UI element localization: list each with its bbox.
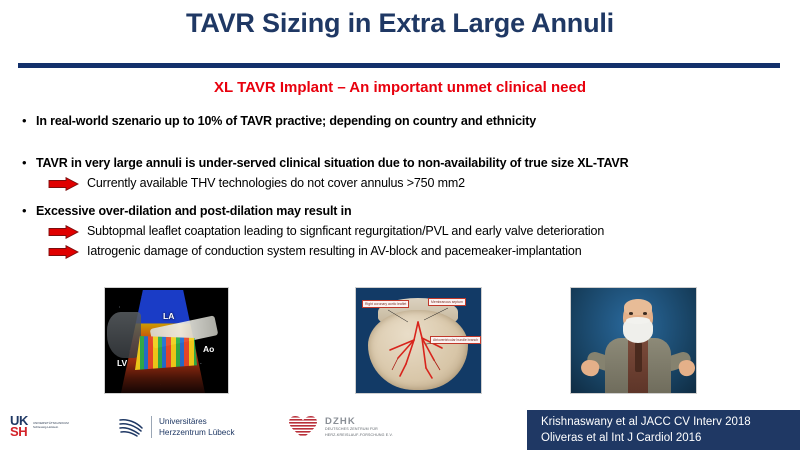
echo-color-mosaic-jet [135, 336, 197, 370]
title-divider [18, 63, 780, 68]
sub-bullet-text: Currently available THV technologies do … [87, 175, 465, 192]
slide: TAVR Sizing in Extra Large Annuli XL TAV… [0, 0, 800, 450]
dzhk-subtitle-line2: HERZ-KREISLAUF-FORSCHUNG E.V. [325, 433, 393, 438]
spacer [0, 192, 800, 202]
spacer [0, 132, 800, 154]
citation-box: Krishnaswany et al JACC CV Interv 2018 O… [527, 410, 800, 450]
uhz-name-line1: Universitäres [159, 416, 235, 427]
bullet-text: Excessive over-dilation and post-dilatio… [36, 202, 351, 220]
citation-line-2: Oliveras et al Int J Cardiol 2016 [541, 430, 800, 446]
uksh-logo: UK SH UNIVERSITÄTSKLINIKUM Schleswig-Hol… [10, 409, 106, 443]
sub-bullet-item: Iatrogenic damage of conduction system r… [0, 243, 800, 260]
heart-callout-label: Membranous septum [428, 298, 466, 306]
echo-label-ao: Ao [203, 344, 214, 354]
echo-ventricle-wall [107, 312, 141, 358]
dzhk-text-block: DZHK DEUTSCHES ZENTRUM FÜR HERZ-KREISLAU… [325, 416, 393, 437]
person-tie [635, 342, 642, 372]
logo-separator [151, 416, 152, 438]
citation-line-1: Krishnaswany et al JACC CV Interv 2018 [541, 414, 800, 430]
slide-subtitle: XL TAVR Implant – An important unmet cli… [0, 79, 800, 96]
uksh-subtitle-line2: Schleswig-Holstein [33, 426, 69, 430]
sub-bullet-item: Currently available THV technologies do … [0, 175, 800, 192]
bullet-text: In real-world szenario up to 10% of TAVR… [36, 112, 536, 130]
right-arrow-icon [48, 245, 79, 259]
person-left-eye [629, 312, 633, 315]
bullet-list: • In real-world szenario up to 10% of TA… [0, 112, 800, 260]
bullet-item: • TAVR in very large annuli is under-ser… [0, 154, 800, 172]
bullet-item: • In real-world szenario up to 10% of TA… [0, 112, 800, 130]
bullet-item: • Excessive over-dilation and post-dilat… [0, 202, 800, 220]
dzhk-name: DZHK [325, 416, 393, 427]
echo-label-la: LA [163, 311, 174, 321]
person-right-eye [643, 312, 647, 315]
right-arrow-icon [48, 177, 79, 191]
striped-heart-icon [288, 415, 318, 439]
uhz-luebeck-logo: Universitäres Herzzentrum Lübeck [118, 412, 268, 442]
bullet-text: TAVR in very large annuli is under-serve… [36, 154, 628, 172]
sub-bullet-text: Iatrogenic damage of conduction system r… [87, 243, 582, 260]
sub-bullet-item: Subtopmal leaflet coaptation leading to … [0, 223, 800, 240]
echocardiogram-image: LA LV Ao [104, 287, 229, 394]
heart-callout-label: Right coronary aortic leaflet [362, 300, 409, 308]
uhz-name-line2: Herzzentrum Lübeck [159, 427, 235, 438]
person-right-hand [678, 359, 697, 378]
uhz-name: Universitäres Herzzentrum Lübeck [159, 416, 235, 438]
echo-label-lv: LV [117, 358, 127, 368]
shrugging-man-image [570, 287, 697, 394]
dzhk-logo: DZHK DEUTSCHES ZENTRUM FÜR HERZ-KREISLAU… [288, 412, 458, 442]
conduction-system-image: Right coronary aortic leaflet Membranous… [355, 287, 482, 394]
bullet-marker-icon: • [22, 154, 36, 172]
sub-bullet-text: Subtopmal leaflet coaptation leading to … [87, 223, 604, 240]
bullet-marker-icon: • [22, 112, 36, 130]
uksh-subtitle: UNIVERSITÄTSKLINIKUM Schleswig-Holstein [33, 422, 69, 430]
uksh-monogram-icon: UK SH [10, 415, 28, 437]
person-moustache [626, 317, 650, 324]
fan-wave-icon [118, 416, 144, 438]
page-title: TAVR Sizing in Extra Large Annuli [0, 8, 800, 39]
uksh-sh-text: SH [10, 426, 28, 437]
heart-callout-label: Atrioventricular bundle branch [430, 336, 481, 344]
bullet-marker-icon: • [22, 202, 36, 220]
right-arrow-icon [48, 225, 79, 239]
